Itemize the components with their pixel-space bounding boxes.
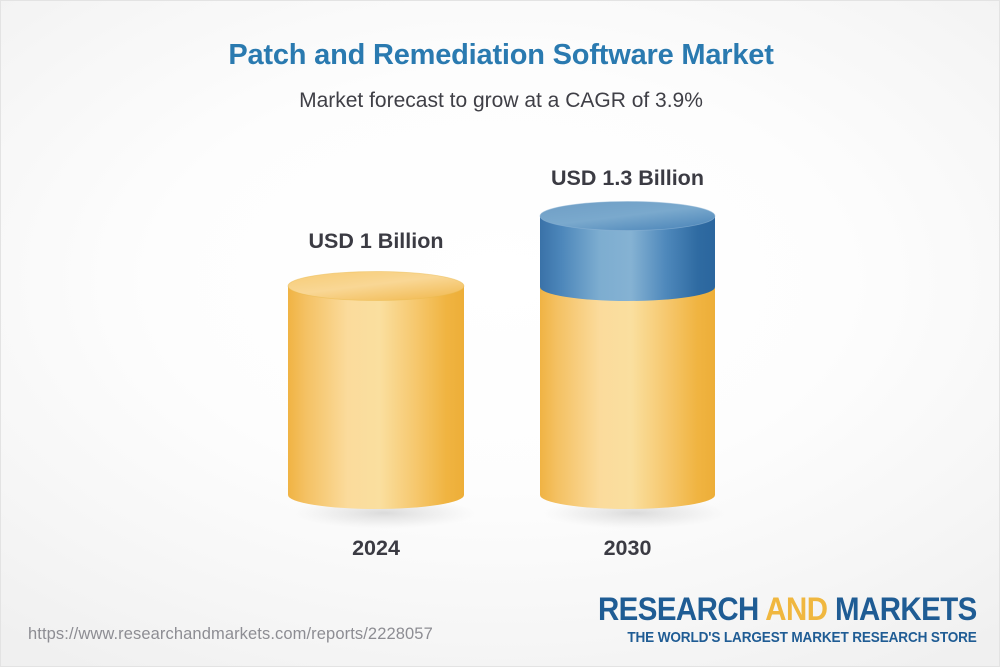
- bar-2024-cylinder: [288, 191, 464, 531]
- bar-2030-category-label: 2030: [540, 536, 715, 561]
- report-url[interactable]: https://www.researchandmarkets.com/repor…: [28, 625, 433, 644]
- bar-2030: USD 1.3 Billion: [540, 126, 715, 551]
- brand-tagline: THE WORLD'S LARGEST MARKET RESEARCH STOR…: [594, 631, 977, 646]
- chart-plot-area: USD 1 Billion: [1, 1, 1000, 601]
- bar-2024: USD 1 Billion: [288, 191, 464, 551]
- brand-word-markets: MARKETS: [828, 591, 977, 627]
- bar-2024-category-label: 2024: [288, 536, 464, 561]
- infographic-canvas: Patch and Remediation Software Market Ma…: [0, 0, 1000, 667]
- brand-logo: RESEARCH AND MARKETS THE WORLD'S LARGEST…: [565, 593, 977, 646]
- bar-2030-cylinder: [540, 126, 715, 531]
- brand-word-and: AND: [766, 591, 828, 627]
- brand-word-research: RESEARCH: [598, 591, 765, 627]
- brand-wordmark: RESEARCH AND MARKETS: [598, 593, 977, 625]
